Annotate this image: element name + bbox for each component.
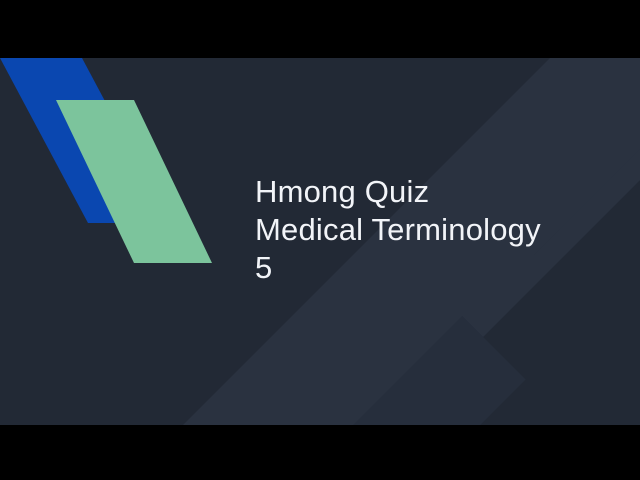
title-line-2: Medical Terminology — [255, 211, 625, 249]
title-line-1: Hmong Quiz — [255, 173, 625, 211]
video-title-card: Hmong Quiz Medical Terminology 5 — [0, 0, 640, 480]
letterbox-top-bar — [0, 0, 640, 58]
letterbox-bottom-bar — [0, 425, 640, 480]
blue-parallelogram-decoration — [0, 58, 170, 223]
background-diagonal-band-center — [250, 316, 526, 425]
slide-canvas: Hmong Quiz Medical Terminology 5 — [0, 58, 640, 425]
title-line-3: 5 — [255, 249, 625, 287]
green-parallelogram-decoration — [50, 100, 212, 263]
slide-title: Hmong Quiz Medical Terminology 5 — [255, 173, 625, 287]
